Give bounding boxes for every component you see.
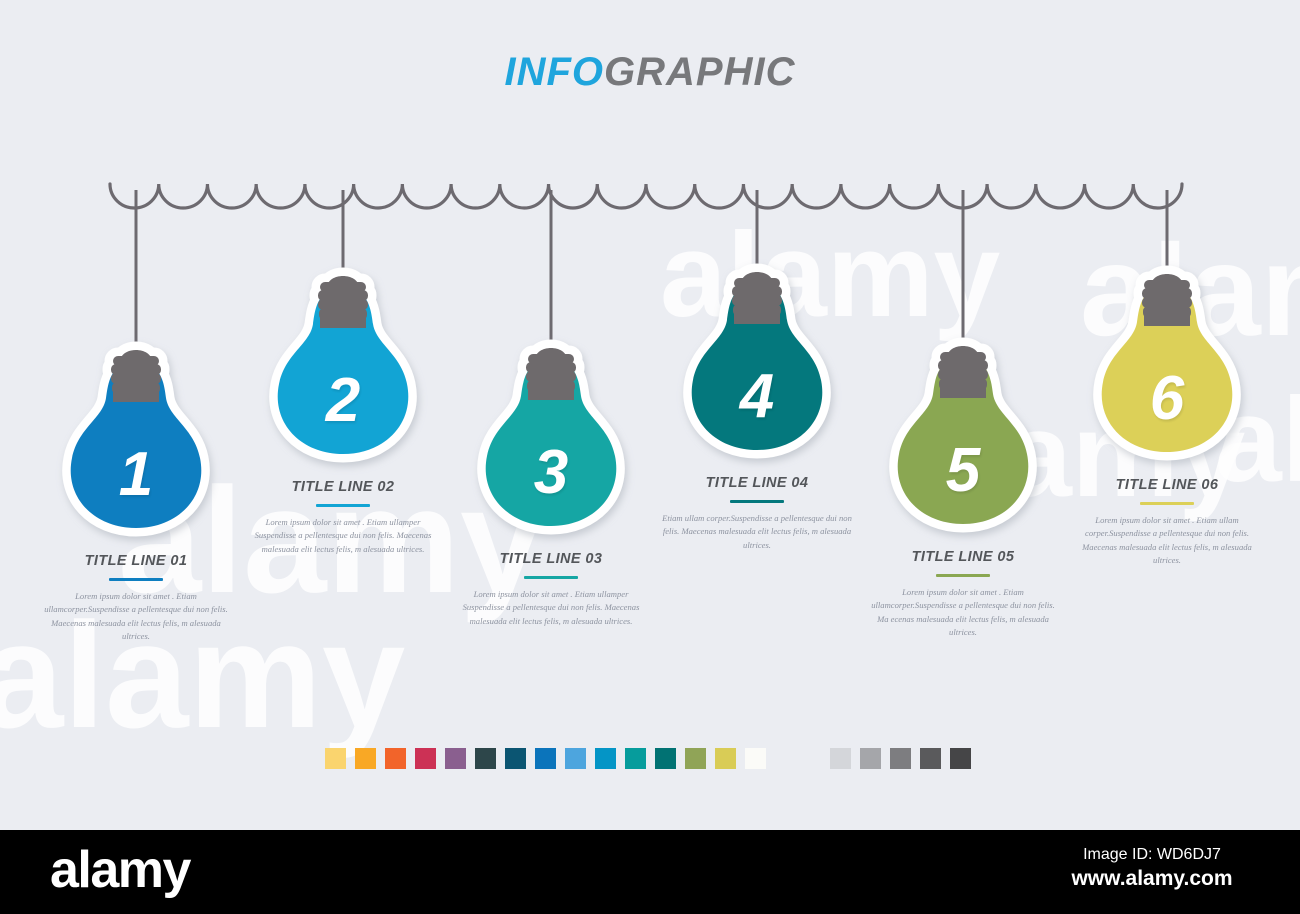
bulb-text-block-6: TITLE LINE 06Lorem ipsum dolor sit amet … <box>1057 477 1277 567</box>
gray-swatch-1[interactable] <box>830 748 851 769</box>
color-swatch-5[interactable] <box>445 748 466 769</box>
color-swatch-6[interactable] <box>475 748 496 769</box>
bulb-graphic-2: 2 <box>263 258 423 473</box>
bulb-item-4[interactable]: 4TITLE LINE 04Etiam ullam corper.Suspend… <box>647 254 867 552</box>
bulb-cap-2 <box>318 276 368 328</box>
gray-swatch-4[interactable] <box>920 748 941 769</box>
color-swatch-1[interactable] <box>325 748 346 769</box>
color-swatch-9[interactable] <box>565 748 586 769</box>
bulb-cap-4 <box>732 272 782 324</box>
bulb-item-6[interactable]: 6TITLE LINE 06Lorem ipsum dolor sit amet… <box>1057 256 1277 567</box>
bulb-body-6: Lorem ipsum dolor sit amet . Etiam ullam… <box>1057 514 1277 567</box>
gray-swatch-3[interactable] <box>890 748 911 769</box>
bulb-text-block-2: TITLE LINE 02Lorem ipsum dolor sit amet … <box>233 479 453 556</box>
bulb-shape-6 <box>1087 256 1247 471</box>
bulb-body-3: Lorem ipsum dolor sit amet . Etiam ullam… <box>441 588 661 628</box>
bulb-divider-2 <box>316 504 370 507</box>
bulb-shape-2 <box>263 258 423 473</box>
bulb-body-2: Lorem ipsum dolor sit amet . Etiam ullam… <box>233 516 453 556</box>
bulb-title-4: TITLE LINE 04 <box>647 475 867 491</box>
color-swatch-11[interactable] <box>625 748 646 769</box>
bulb-graphic-1: 1 <box>56 332 216 547</box>
color-swatch-2[interactable] <box>355 748 376 769</box>
bulb-shape-4 <box>677 254 837 469</box>
bulb-graphic-3: 3 <box>471 330 631 545</box>
color-swatch-palette <box>0 748 1300 778</box>
swatch-group-colors <box>325 748 766 769</box>
bulb-item-2[interactable]: 2TITLE LINE 02Lorem ipsum dolor sit amet… <box>233 258 453 556</box>
color-swatch-4[interactable] <box>415 748 436 769</box>
bulb-graphic-6: 6 <box>1087 256 1247 471</box>
bulb-cap-6 <box>1142 274 1192 326</box>
bulb-divider-5 <box>936 574 990 577</box>
bulb-title-5: TITLE LINE 05 <box>853 549 1073 565</box>
image-id-label: Image ID: WD6DJ7 <box>1032 846 1272 864</box>
bulb-divider-6 <box>1140 502 1194 505</box>
color-swatch-8[interactable] <box>535 748 556 769</box>
bulb-text-block-1: TITLE LINE 01Lorem ipsum dolor sit amet … <box>26 553 246 643</box>
bulb-cap-1 <box>111 350 161 402</box>
color-swatch-10[interactable] <box>595 748 616 769</box>
bulb-body-4: Etiam ullam corper.Suspendisse a pellent… <box>647 512 867 552</box>
bulb-graphic-4: 4 <box>677 254 837 469</box>
bulb-divider-4 <box>730 500 784 503</box>
bulb-body-1: Lorem ipsum dolor sit amet . Etiam ullam… <box>26 590 246 643</box>
bulb-title-3: TITLE LINE 03 <box>441 551 661 567</box>
website-url: www.alamy.com <box>1032 867 1272 891</box>
swatch-group-grays <box>830 748 971 769</box>
color-swatch-13[interactable] <box>685 748 706 769</box>
gray-swatch-2[interactable] <box>860 748 881 769</box>
bulb-shape-1 <box>56 332 216 547</box>
bulb-divider-1 <box>109 578 163 581</box>
gray-swatch-5[interactable] <box>950 748 971 769</box>
color-swatch-3[interactable] <box>385 748 406 769</box>
bulb-shape-5 <box>883 328 1043 543</box>
bulb-cap-3 <box>526 348 576 400</box>
bulb-item-5[interactable]: 5TITLE LINE 05Lorem ipsum dolor sit amet… <box>853 328 1073 639</box>
bulb-title-1: TITLE LINE 01 <box>26 553 246 569</box>
bulb-cap-5 <box>938 346 988 398</box>
footer-bar: alamy Image ID: WD6DJ7 www.alamy.com <box>0 830 1300 914</box>
color-swatch-14[interactable] <box>715 748 736 769</box>
bulb-item-1[interactable]: 1TITLE LINE 01Lorem ipsum dolor sit amet… <box>26 332 246 643</box>
bulb-item-3[interactable]: 3TITLE LINE 03Lorem ipsum dolor sit amet… <box>441 330 661 628</box>
bulb-divider-3 <box>524 576 578 579</box>
bulb-text-block-4: TITLE LINE 04Etiam ullam corper.Suspendi… <box>647 475 867 552</box>
color-swatch-7[interactable] <box>505 748 526 769</box>
bulb-title-2: TITLE LINE 02 <box>233 479 453 495</box>
bulb-title-6: TITLE LINE 06 <box>1057 477 1277 493</box>
bulb-text-block-3: TITLE LINE 03Lorem ipsum dolor sit amet … <box>441 551 661 628</box>
infographic-canvas: alamy alamy alamy alamy alamy alamy INFO… <box>0 0 1300 830</box>
alamy-logo: alamy <box>50 844 190 896</box>
scallop-wire-path <box>110 184 1182 208</box>
bulb-body-5: Lorem ipsum dolor sit amet . Etiam ullam… <box>853 586 1073 639</box>
bulb-graphic-5: 5 <box>883 328 1043 543</box>
bulb-text-block-5: TITLE LINE 05Lorem ipsum dolor sit amet … <box>853 549 1073 639</box>
color-swatch-15[interactable] <box>745 748 766 769</box>
bulb-shape-3 <box>471 330 631 545</box>
color-swatch-12[interactable] <box>655 748 676 769</box>
footer-meta: Image ID: WD6DJ7 www.alamy.com <box>1032 846 1272 891</box>
